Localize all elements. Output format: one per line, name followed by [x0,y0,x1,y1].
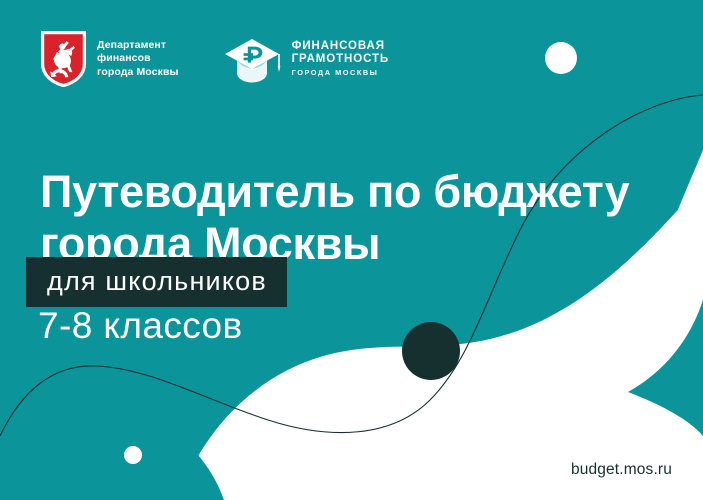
page-title: Путеводитель по бюджету города Москвы [40,166,680,270]
moscow-coat-of-arms-icon [41,31,86,87]
financial-literacy-line-1: ФИНАНСОВАЯ [292,40,390,54]
white-circle-top-right [545,42,577,74]
logo-bar: Департамент финансов города Москвы [41,31,389,87]
department-logo-line-3: города Москвы [97,66,179,79]
financial-literacy-logo-text: ФИНАНСОВАЯ ГРАМОТНОСТЬ ГОРОДА МОСКВЫ [292,40,390,79]
department-logo-text: Департамент финансов города Москвы [97,39,179,79]
ruble-icon [611,312,641,346]
poster-cover: Департамент финансов города Москвы [0,0,703,500]
ruble-circle-badge [595,298,657,360]
white-circle-bottom-left [124,446,142,464]
financial-literacy-line-3: ГОРОДА МОСКВЫ [292,67,390,79]
page-title-line-1: Путеводитель по бюджету [40,166,680,218]
graduation-cap-ruble-icon [221,33,283,85]
footer-url: budget.mos.ru [571,461,672,479]
audience-badge: для школьников [26,257,287,307]
grade-range-label: 7-8 классов [38,303,243,349]
department-of-finance-logo: Департамент финансов города Москвы [41,31,179,87]
department-logo-line-1: Департамент [97,39,179,52]
financial-literacy-logo: ФИНАНСОВАЯ ГРАМОТНОСТЬ ГОРОДА МОСКВЫ [221,33,390,85]
department-logo-line-2: финансов [97,52,179,65]
dark-navy-circle [402,322,460,380]
financial-literacy-line-2: ГРАМОТНОСТЬ [292,53,390,67]
